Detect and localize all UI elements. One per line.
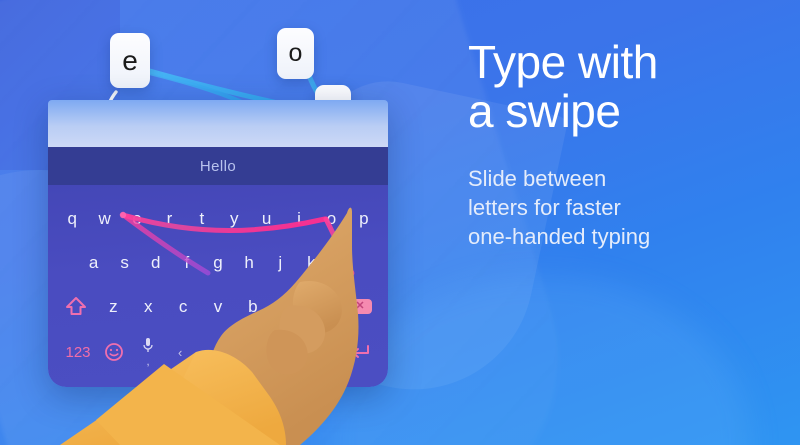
- keyboard-row-2: a s d f g h j k l: [48, 247, 388, 277]
- key-f[interactable]: f: [171, 254, 202, 271]
- backspace-icon: ✕: [348, 299, 372, 314]
- subtitle-line-3: one-handed typing: [468, 222, 778, 251]
- key-v[interactable]: v: [201, 298, 236, 315]
- key-q[interactable]: q: [56, 210, 88, 227]
- key-w[interactable]: w: [88, 210, 120, 227]
- key-o[interactable]: o: [315, 210, 347, 227]
- key-i[interactable]: i: [283, 210, 315, 227]
- key-b[interactable]: b: [235, 298, 270, 315]
- marketing-copy: Type with a swipe Slide between letters …: [468, 38, 778, 251]
- smiley-icon: [104, 342, 124, 362]
- key-c[interactable]: c: [166, 298, 201, 315]
- backspace-key[interactable]: ✕: [340, 299, 380, 314]
- key-h[interactable]: h: [234, 254, 265, 271]
- keyboard-row-3: z x c v b n m ✕: [48, 291, 388, 321]
- keyboard-row-1: q w e r t y u i o p: [48, 203, 388, 233]
- key-t[interactable]: t: [186, 210, 218, 227]
- key-a[interactable]: a: [78, 254, 109, 271]
- enter-key[interactable]: [340, 343, 380, 361]
- phone-screen-area: [48, 100, 388, 147]
- emoji-key[interactable]: [100, 342, 128, 362]
- headline-line-1: Type with: [468, 38, 778, 87]
- floating-key-o-label: o: [289, 39, 303, 68]
- keyboard-row-4: 123 , ‹ ›: [48, 335, 388, 369]
- space-left-arrow-icon: ‹: [178, 345, 182, 360]
- comma-label: ,: [146, 356, 149, 368]
- period-label: .: [321, 351, 324, 363]
- phone-mockup: Hello q w e r t y u i o p a s d f g h j …: [48, 100, 388, 387]
- numbers-key[interactable]: 123: [56, 344, 100, 361]
- key-d[interactable]: d: [140, 254, 171, 271]
- key-g[interactable]: g: [202, 254, 233, 271]
- key-z[interactable]: z: [96, 298, 131, 315]
- key-n[interactable]: n: [270, 298, 305, 315]
- key-e[interactable]: e: [121, 210, 153, 227]
- suggestion-bar[interactable]: Hello: [48, 147, 388, 185]
- key-y[interactable]: y: [218, 210, 250, 227]
- microphone-icon: [142, 337, 154, 354]
- floating-key-e-label: e: [122, 45, 138, 77]
- space-key[interactable]: ‹ ›: [168, 345, 306, 360]
- subtitle-line-1: Slide between: [468, 164, 778, 193]
- subtitle-line-2: letters for faster: [468, 193, 778, 222]
- key-r[interactable]: r: [153, 210, 185, 227]
- shift-key[interactable]: [56, 296, 96, 317]
- page-subtitle: Slide between letters for faster one-han…: [468, 164, 778, 252]
- key-s[interactable]: s: [109, 254, 140, 271]
- suggestion-text: Hello: [200, 158, 236, 175]
- punctuation-label: !?: [319, 341, 327, 351]
- key-x[interactable]: x: [131, 298, 166, 315]
- floating-key-o: o: [277, 28, 314, 79]
- shift-arrow-icon: [65, 296, 87, 317]
- key-j[interactable]: j: [265, 254, 296, 271]
- key-l[interactable]: l: [327, 254, 358, 271]
- punctuation-key[interactable]: !? .: [306, 341, 340, 363]
- page-title: Type with a swipe: [468, 38, 778, 136]
- key-m[interactable]: m: [305, 298, 340, 315]
- key-u[interactable]: u: [250, 210, 282, 227]
- floating-key-e: e: [110, 33, 150, 88]
- headline-line-2: a swipe: [468, 87, 778, 136]
- key-k[interactable]: k: [296, 254, 327, 271]
- space-right-arrow-icon: ›: [292, 345, 296, 360]
- mic-key[interactable]: ,: [128, 337, 168, 368]
- enter-arrow-icon: [348, 343, 372, 361]
- key-p[interactable]: p: [348, 210, 380, 227]
- keyboard: q w e r t y u i o p a s d f g h j k l: [48, 185, 388, 387]
